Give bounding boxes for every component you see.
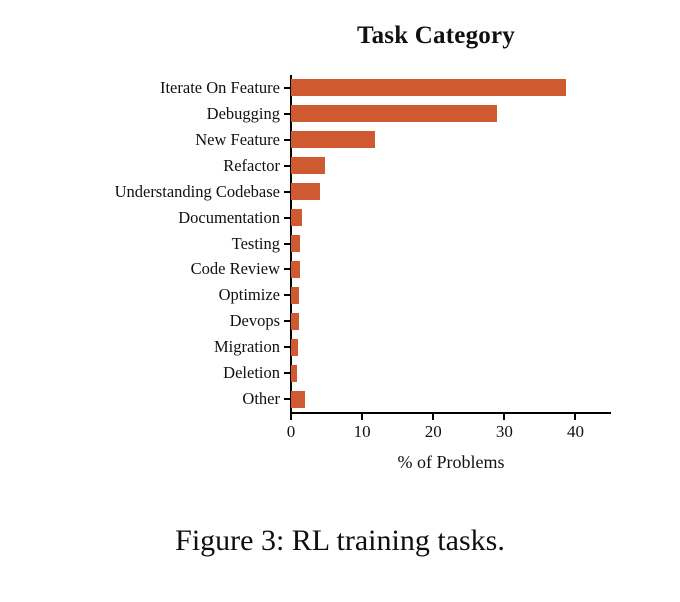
y-axis-tick-label: Iterate On Feature (160, 80, 280, 97)
y-axis-tick-label: Debugging (207, 106, 280, 123)
bar (291, 313, 299, 330)
x-axis-tick-label: 10 (354, 423, 371, 440)
bar (291, 365, 297, 382)
y-axis-tick-mark (284, 268, 291, 270)
y-axis-tick-mark (284, 243, 291, 245)
x-axis-tick-label: 30 (496, 423, 513, 440)
x-axis-tick-mark (290, 412, 292, 420)
y-axis-tick-label: Devops (230, 313, 280, 330)
x-axis-tick-mark (574, 412, 576, 420)
y-axis-tick-label: Deletion (223, 365, 280, 382)
y-axis-tick-mark (284, 87, 291, 89)
y-axis-tick-mark (284, 372, 291, 374)
y-axis-tick-mark (284, 398, 291, 400)
x-axis-tick-label: 0 (287, 423, 296, 440)
y-axis-tick-label: Documentation (178, 209, 280, 226)
figure-container: Task Category Iterate On FeatureDebuggin… (0, 0, 680, 602)
y-axis-tick-mark (284, 217, 291, 219)
bar (291, 183, 320, 200)
bar (291, 391, 305, 408)
x-axis-tick-mark (361, 412, 363, 420)
y-axis-tick-mark (284, 294, 291, 296)
bar (291, 339, 298, 356)
bar (291, 261, 300, 278)
bar (291, 157, 325, 174)
chart-title: Task Category (291, 22, 581, 50)
bar (291, 287, 299, 304)
x-axis-tick-mark (432, 412, 434, 420)
y-axis-tick-mark (284, 346, 291, 348)
x-axis-tick-label: 20 (425, 423, 442, 440)
x-axis-spine (290, 412, 611, 414)
bar (291, 209, 302, 226)
y-axis-tick-mark (284, 139, 291, 141)
figure-caption: Figure 3: RL training tasks. (0, 524, 680, 558)
bar (291, 235, 300, 252)
plot-area: Iterate On FeatureDebuggingNew FeatureRe… (291, 75, 611, 412)
x-axis-tick-mark (503, 412, 505, 420)
y-axis-tick-label: Migration (214, 339, 280, 356)
y-axis-tick-mark (284, 113, 291, 115)
bar (291, 131, 375, 148)
y-axis-tick-label: Testing (232, 235, 280, 252)
y-axis-tick-label: Refactor (223, 157, 280, 174)
y-axis-tick-label: Optimize (219, 287, 280, 304)
y-axis-tick-label: New Feature (195, 132, 280, 149)
y-axis-tick-mark (284, 320, 291, 322)
x-axis-tick-label: 40 (567, 423, 584, 440)
y-axis-tick-label: Understanding Codebase (115, 183, 280, 200)
x-axis-label: % of Problems (291, 452, 611, 473)
bar (291, 105, 497, 122)
y-axis-tick-mark (284, 191, 291, 193)
y-axis-tick-label: Other (242, 391, 280, 408)
y-axis-tick-label: Code Review (191, 261, 280, 278)
bar (291, 79, 566, 96)
y-axis-tick-mark (284, 165, 291, 167)
